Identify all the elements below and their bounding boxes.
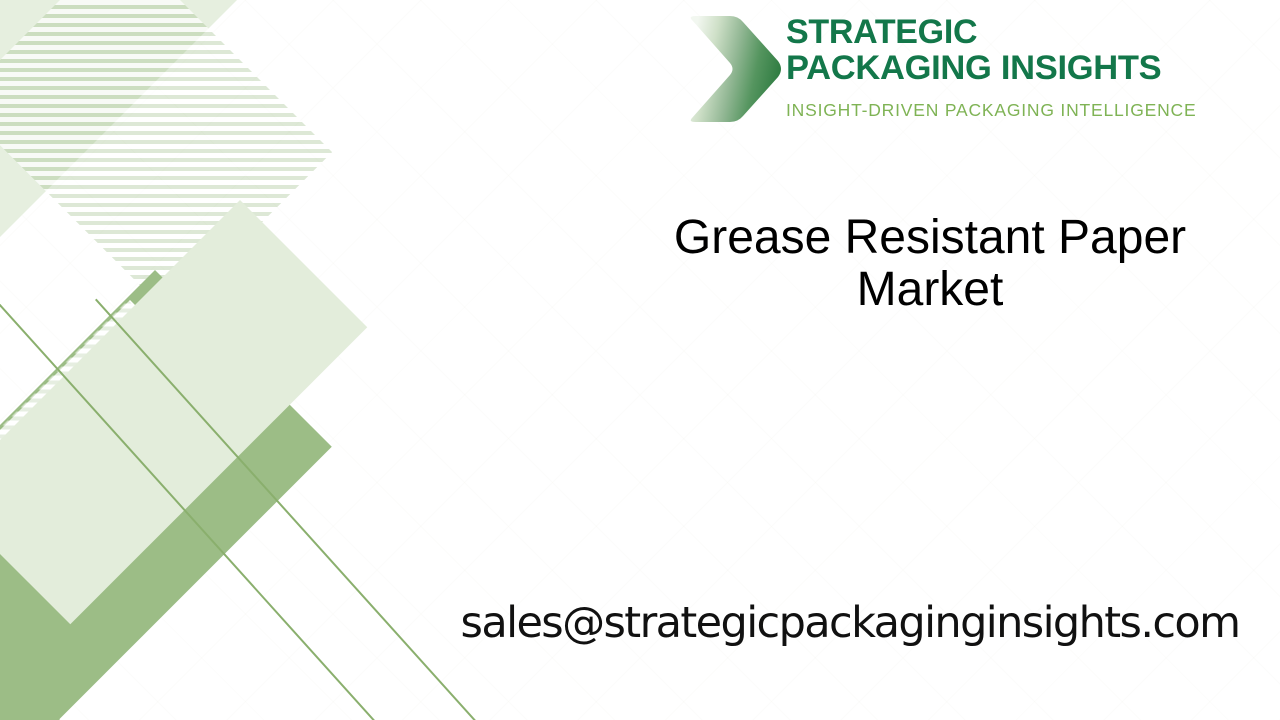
- chevron-arrow-mark: [686, 14, 784, 124]
- logo-tagline: INSIGHT-DRIVEN PACKAGING INTELLIGENCE: [786, 100, 1186, 121]
- logo-wordmark: STRATEGIC PACKAGING INSIGHTS INSIGHT-DRI…: [786, 14, 1186, 121]
- presentation-slide: STRATEGIC PACKAGING INSIGHTS INSIGHT-DRI…: [0, 0, 1280, 720]
- logo-line-2: PACKAGING INSIGHTS: [786, 50, 1186, 86]
- contact-email: sales@strategicpackaginginsights.com: [420, 596, 1280, 650]
- brand-logo: STRATEGIC PACKAGING INSIGHTS INSIGHT-DRI…: [686, 14, 1186, 138]
- page-title: Grease Resistant Paper Market: [600, 212, 1260, 316]
- logo-line-1: STRATEGIC: [786, 14, 1186, 50]
